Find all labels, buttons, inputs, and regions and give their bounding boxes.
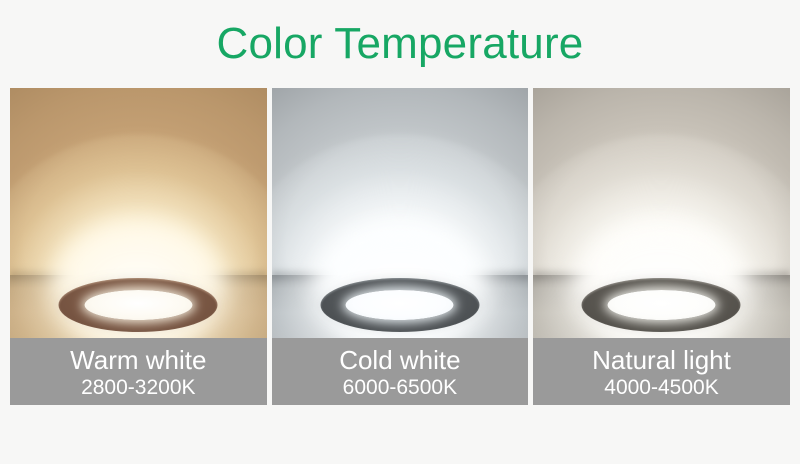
color-temperature-panel-row: Warm white 2800-3200K Cold white 6000-65 [10,88,790,405]
light-sample-photo-warm [10,88,267,338]
caption-kelvin-range: 6000-6500K [343,375,457,400]
downlight-fixture [59,278,218,332]
caption-band-warm: Warm white 2800-3200K [10,338,267,405]
page-title: Color Temperature [0,18,800,70]
color-temperature-panel-cold: Cold white 6000-6500K [272,88,529,405]
caption-title: Natural light [592,345,731,375]
downlight-fixture [582,278,741,332]
downlight-diffuser [346,290,454,320]
downlight-diffuser [607,290,715,320]
caption-kelvin-range: 4000-4500K [604,375,718,400]
light-sample-photo-natural [533,88,790,338]
caption-title: Cold white [339,345,460,375]
color-temperature-panel-natural: Natural light 4000-4500K [533,88,790,405]
color-temperature-infographic: Color Temperature Warm white 2800-3200K [0,0,800,464]
caption-title: Warm white [70,345,206,375]
caption-band-cold: Cold white 6000-6500K [272,338,529,405]
downlight-diffuser [84,290,192,320]
color-temperature-panel-warm: Warm white 2800-3200K [10,88,267,405]
caption-band-natural: Natural light 4000-4500K [533,338,790,405]
caption-kelvin-range: 2800-3200K [81,375,195,400]
downlight-fixture [320,278,479,332]
light-sample-photo-cold [272,88,529,338]
